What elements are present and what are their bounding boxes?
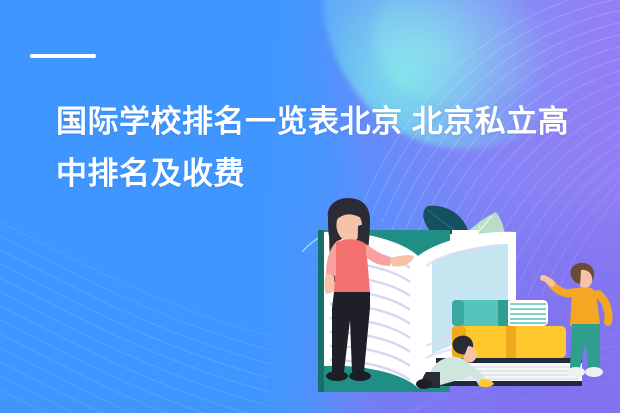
book-teal	[452, 300, 548, 326]
page-title: 国际学校排名一览表北京 北京私立高中排名及收费	[56, 96, 576, 200]
title-accent-bar	[30, 54, 96, 58]
wave-lines-bottom-left	[0, 173, 270, 413]
banner-image: 国际学校排名一览表北京 北京私立高中排名及收费	[0, 0, 620, 413]
education-illustration	[300, 196, 620, 413]
